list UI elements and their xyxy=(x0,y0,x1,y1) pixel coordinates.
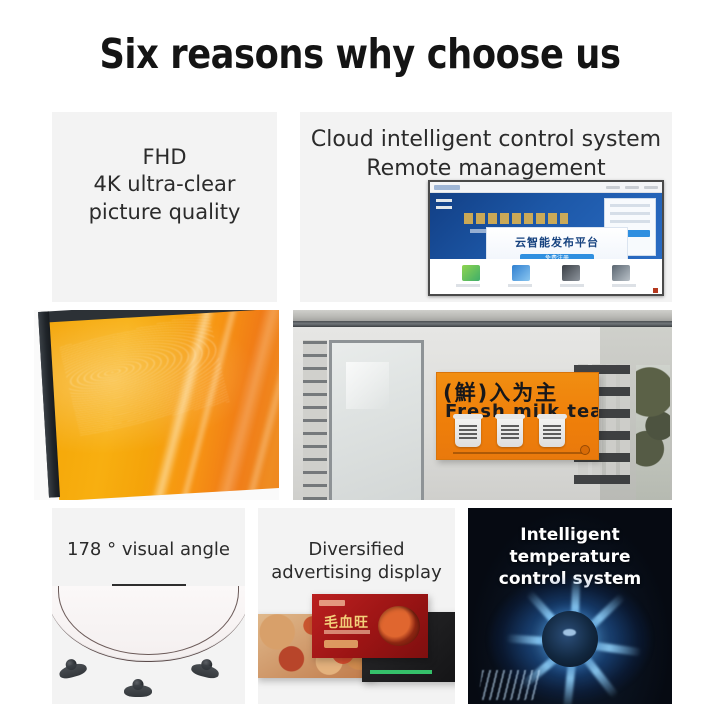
field-line xyxy=(610,212,650,215)
cooling-fan-graphic xyxy=(468,574,672,704)
promo-headline: 毛血旺 xyxy=(324,612,369,632)
device-grid-icon xyxy=(512,265,530,281)
store-glass-door xyxy=(329,340,424,500)
store-lattice-screen xyxy=(303,340,327,500)
advertising-screens-collage: 毛血旺 xyxy=(258,588,455,703)
analytics-chart-icon xyxy=(612,265,630,281)
feature-label-blur xyxy=(560,284,584,287)
feature-label-blur xyxy=(612,284,636,287)
field-line xyxy=(610,204,650,207)
heatsink-fins xyxy=(478,670,540,700)
panel-advertising-display: Diversified advertising display 毛血旺 xyxy=(258,508,455,704)
caption-line-2: Remote management xyxy=(300,155,672,184)
menu-item-icon xyxy=(644,186,658,189)
platform-title: 云智能发布平台 xyxy=(515,234,599,250)
nav-line-icon xyxy=(436,199,452,202)
viewer-silhouette-icon xyxy=(56,655,88,681)
advertising-display-caption: Diversified advertising display xyxy=(258,538,455,585)
milk-tea-cup xyxy=(497,417,523,447)
caption-line-1: FHD xyxy=(52,144,277,171)
picture-quality-caption: FHD 4K ultra-clear picture quality xyxy=(52,144,277,226)
brand-logo-icon xyxy=(319,600,345,606)
display-product-photo xyxy=(34,310,279,500)
store-plant xyxy=(636,365,670,500)
viewer-silhouette-icon xyxy=(190,655,222,680)
promo-cta-button[interactable] xyxy=(324,640,358,648)
viewing-cone-shape xyxy=(52,586,245,662)
signage-divider xyxy=(453,452,584,454)
store-ceiling-rail xyxy=(293,321,672,327)
caption-line-2: 4K ultra-clear xyxy=(52,171,277,198)
panel-display-product xyxy=(34,310,279,500)
feature-icon-row xyxy=(430,259,662,281)
viewer-silhouette-icon xyxy=(124,678,152,697)
viewing-angle-diagram xyxy=(52,574,245,704)
browser-feature-row xyxy=(430,259,662,296)
caption-line-1: Intelligent temperature xyxy=(468,524,672,568)
milk-tea-cup xyxy=(539,417,565,447)
feature-label-blur xyxy=(508,284,532,287)
milk-tea-cup xyxy=(455,417,481,447)
hero-left-nav xyxy=(436,199,452,213)
caption-line-2: advertising display xyxy=(258,561,455,584)
hero-headline-blur xyxy=(464,213,568,224)
field-line xyxy=(610,220,650,223)
browser-toolbar xyxy=(430,182,662,193)
viewer-shoulders xyxy=(124,685,152,697)
red-promo-screen: 毛血旺 xyxy=(312,594,428,658)
food-bowl-image xyxy=(378,606,420,646)
panel-picture-quality: FHD 4K ultra-clear picture quality xyxy=(52,112,277,302)
menu-item-icon xyxy=(625,186,639,189)
fan-hub xyxy=(542,611,598,667)
signage-cup-row xyxy=(455,417,565,447)
viewer-shoulders xyxy=(190,662,220,680)
feature-label-blur xyxy=(456,284,480,287)
browser-screenshot: 云智能发布平台 免费注册 xyxy=(428,180,664,296)
browser-menu-icons xyxy=(463,186,658,189)
caption-line-1: Cloud intelligent control system xyxy=(300,126,672,155)
site-logo-icon xyxy=(434,185,460,190)
page-title: Six reasons why choose us xyxy=(50,30,669,78)
menu-item-icon xyxy=(606,186,620,189)
display-panel-body xyxy=(38,310,279,498)
panel-temperature-control: Intelligent temperature control system xyxy=(468,508,672,704)
remote-hand-icon xyxy=(562,265,580,281)
menu-accent-bar xyxy=(370,670,432,674)
cloud-control-caption: Cloud intelligent control system Remote … xyxy=(300,126,672,183)
viewer-shoulders xyxy=(58,661,88,680)
nav-line-icon xyxy=(436,206,452,209)
panel-cloud-control: Cloud intelligent control system Remote … xyxy=(300,112,672,302)
status-badge xyxy=(653,288,658,293)
viewing-angle-caption: 178 ° visual angle xyxy=(52,538,245,561)
display-screen xyxy=(49,310,279,500)
promo-subline xyxy=(324,630,370,634)
caption-line-1: Diversified xyxy=(258,538,455,561)
signage-badge-icon xyxy=(580,445,590,455)
media-file-icon xyxy=(462,265,480,281)
panel-installation-photo: (鮮)入为主 Fresh milk tea xyxy=(293,310,672,500)
browser-hero-banner: 云智能发布平台 免费注册 xyxy=(430,193,662,259)
caption-line-3: picture quality xyxy=(52,199,277,226)
wall-mounted-signage: (鮮)入为主 Fresh milk tea xyxy=(436,372,599,460)
poster-root: Six reasons why choose us FHD 4K ultra-c… xyxy=(0,0,720,720)
panel-viewing-angle: 178 ° visual angle xyxy=(52,508,245,704)
feature-label-row xyxy=(430,281,662,287)
